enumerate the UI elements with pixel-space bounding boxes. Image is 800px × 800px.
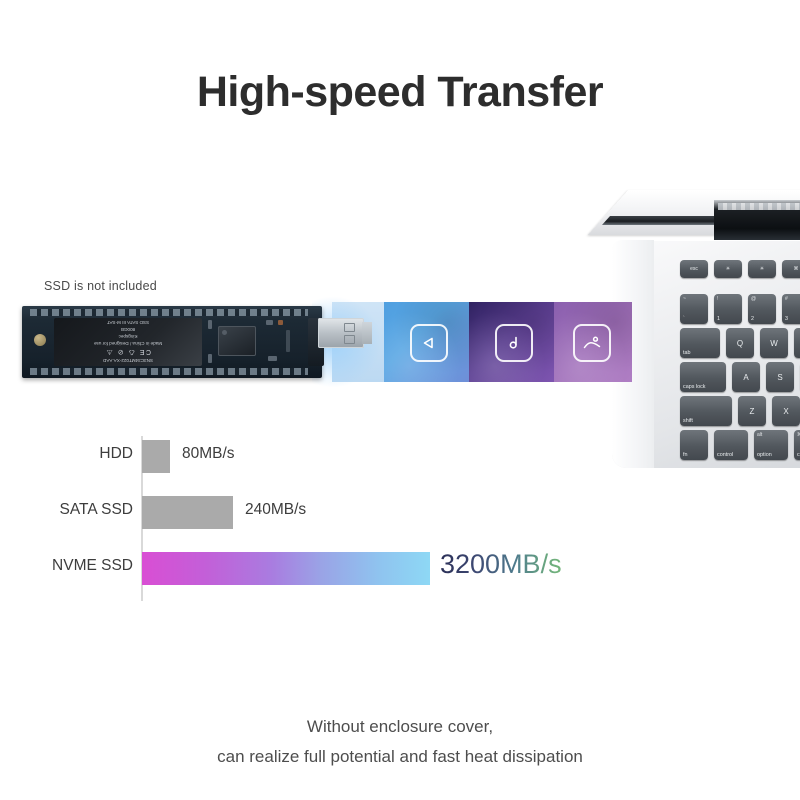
key-top-label: ! <box>717 296 718 302</box>
keyboard-row: shiftZXC <box>680 396 800 426</box>
music-icon <box>495 324 533 362</box>
key-label: tab <box>683 350 691 356</box>
key-1[interactable]: !1 <box>714 294 742 324</box>
product-banner-image: High-speed Transfer esc☀☀⌘~`!1@2#3tabQWE… <box>0 0 800 800</box>
caption-line-1: Without enclosure cover, <box>0 712 800 742</box>
key-label: A <box>743 373 748 382</box>
speed-comparison-chart: HDD 80MB/s SATA SSD 240MB/s NVME SSD 320… <box>30 436 620 601</box>
key-top-label: @ <box>751 296 756 302</box>
key-x[interactable]: X <box>772 396 800 426</box>
key-label: caps lock <box>683 384 705 390</box>
ssd-smd-part <box>268 356 277 361</box>
key-label: 1 <box>717 316 720 322</box>
keyboard-row: caps lockASD <box>680 362 800 392</box>
page-title: High-speed Transfer <box>0 68 800 117</box>
key-label: W <box>770 339 778 348</box>
ssd-controller-chip <box>218 326 256 356</box>
key-esc[interactable]: esc <box>680 260 708 278</box>
ssd-label-certs: CE ♺ ⊘ ⚠ <box>58 346 198 357</box>
key-label: X <box>783 407 788 416</box>
key-2[interactable]: @2 <box>748 294 776 324</box>
caption-block: Without enclosure cover, can realize ful… <box>0 712 800 772</box>
photo-icon <box>573 324 611 362</box>
key-label: ☀ <box>726 266 730 272</box>
ssd-label-fineprint: Made in China / Designed for use <box>58 339 198 346</box>
key-label: 3 <box>785 316 788 322</box>
key-label: control <box>717 452 733 458</box>
usb-slot <box>344 323 355 332</box>
key-f3[interactable]: ⌘ <box>782 260 800 278</box>
ssd-not-included-note: SSD is not included <box>44 279 157 293</box>
key-z[interactable]: Z <box>738 396 766 426</box>
ssd-label-brand: Kingspec <box>58 332 198 339</box>
chart-category-label: NVME SSD <box>30 557 133 575</box>
caption-line-2: can realize full potential and fast heat… <box>0 742 800 772</box>
key-label: ⌘ <box>794 266 799 272</box>
key-s[interactable]: S <box>766 362 794 392</box>
ssd-product-illustration: SN3C34MT022-XA.AAD CE ♺ ⊘ ⚠ Made in Chin… <box>22 296 632 388</box>
key-top-label: # <box>785 296 788 302</box>
key-label: esc <box>690 266 698 272</box>
key-q[interactable]: Q <box>726 328 754 358</box>
ssd-label-model: SSD SATA III M-SAT <box>58 318 198 325</box>
ssd-pads-top <box>30 309 308 316</box>
ssd-label-capacity: 800GB <box>58 325 198 332</box>
usb-connector <box>318 318 364 348</box>
chart-value-sata: 240MB/s <box>245 501 306 519</box>
key-command[interactable]: ⌘command <box>794 430 800 460</box>
key-label: option <box>757 452 772 458</box>
chart-category-label: SATA SSD <box>30 501 133 519</box>
ssd-smd-part <box>266 320 273 325</box>
chart-row-hdd: HDD 80MB/s <box>30 436 620 491</box>
video-icon <box>410 324 448 362</box>
ssd-smd-part <box>208 320 212 329</box>
key-label: ` <box>683 316 685 322</box>
key-shift[interactable]: shift <box>680 396 732 426</box>
key-label: ☀ <box>760 266 764 272</box>
key-capslock[interactable]: caps lock <box>680 362 726 392</box>
key-control[interactable]: control <box>714 430 748 460</box>
chart-value-hdd: 80MB/s <box>182 445 235 463</box>
chart-value-nvme: 3200MB/s <box>440 549 562 580</box>
ssd-smd-part <box>208 354 212 363</box>
ssd-board: SN3C34MT022-XA.AAD CE ♺ ⊘ ⚠ Made in Chin… <box>22 306 322 378</box>
chart-category-label: HDD <box>30 445 133 463</box>
chart-bar-nvme <box>142 552 430 585</box>
key-top-label: ~ <box>683 296 686 302</box>
key-w[interactable]: W <box>760 328 788 358</box>
chart-bar-sata <box>142 496 233 529</box>
keyboard-row: tabQWE <box>680 328 800 358</box>
key-top-label: alt <box>757 432 762 438</box>
ssd-label-serial: SN3C34MT022-XA.AAD <box>58 356 198 363</box>
ssd-smd-part <box>278 320 283 325</box>
ssd-screw <box>34 334 46 346</box>
laptop-hinge-strip-top <box>718 203 800 210</box>
key-f2[interactable]: ☀ <box>748 260 776 278</box>
ssd-pads-bottom <box>30 368 308 375</box>
key-[interactable]: ~` <box>680 294 708 324</box>
key-3[interactable]: #3 <box>782 294 800 324</box>
key-label: shift <box>683 418 693 424</box>
key-label: 2 <box>751 316 754 322</box>
key-label: fn <box>683 452 688 458</box>
key-tab[interactable]: tab <box>680 328 720 358</box>
key-e[interactable]: E <box>794 328 800 358</box>
keyboard-row: fncontrolaltoption⌘command <box>680 430 800 460</box>
key-fn[interactable]: fn <box>680 430 708 460</box>
chart-row-nvme: NVME SSD 3200MB/s <box>30 548 620 603</box>
key-f1[interactable]: ☀ <box>714 260 742 278</box>
ssd-smd-part <box>286 330 290 352</box>
keyboard-row: ~`!1@2#3 <box>680 294 800 324</box>
key-label: Z <box>750 407 755 416</box>
key-option[interactable]: altoption <box>754 430 788 460</box>
usb-connector-tip <box>362 322 372 344</box>
usb-slot <box>344 335 355 344</box>
key-a[interactable]: A <box>732 362 760 392</box>
key-label: S <box>777 373 782 382</box>
key-label: Q <box>737 339 743 348</box>
laptop-keyboard: esc☀☀⌘~`!1@2#3tabQWEcaps lockASDshiftZXC… <box>680 260 800 460</box>
chart-bar-hdd <box>142 440 170 473</box>
ssd-label: SN3C34MT022-XA.AAD CE ♺ ⊘ ⚠ Made in Chin… <box>54 318 202 366</box>
keyboard-row: esc☀☀⌘ <box>680 260 800 278</box>
chart-row-sata: SATA SSD 240MB/s <box>30 492 620 547</box>
